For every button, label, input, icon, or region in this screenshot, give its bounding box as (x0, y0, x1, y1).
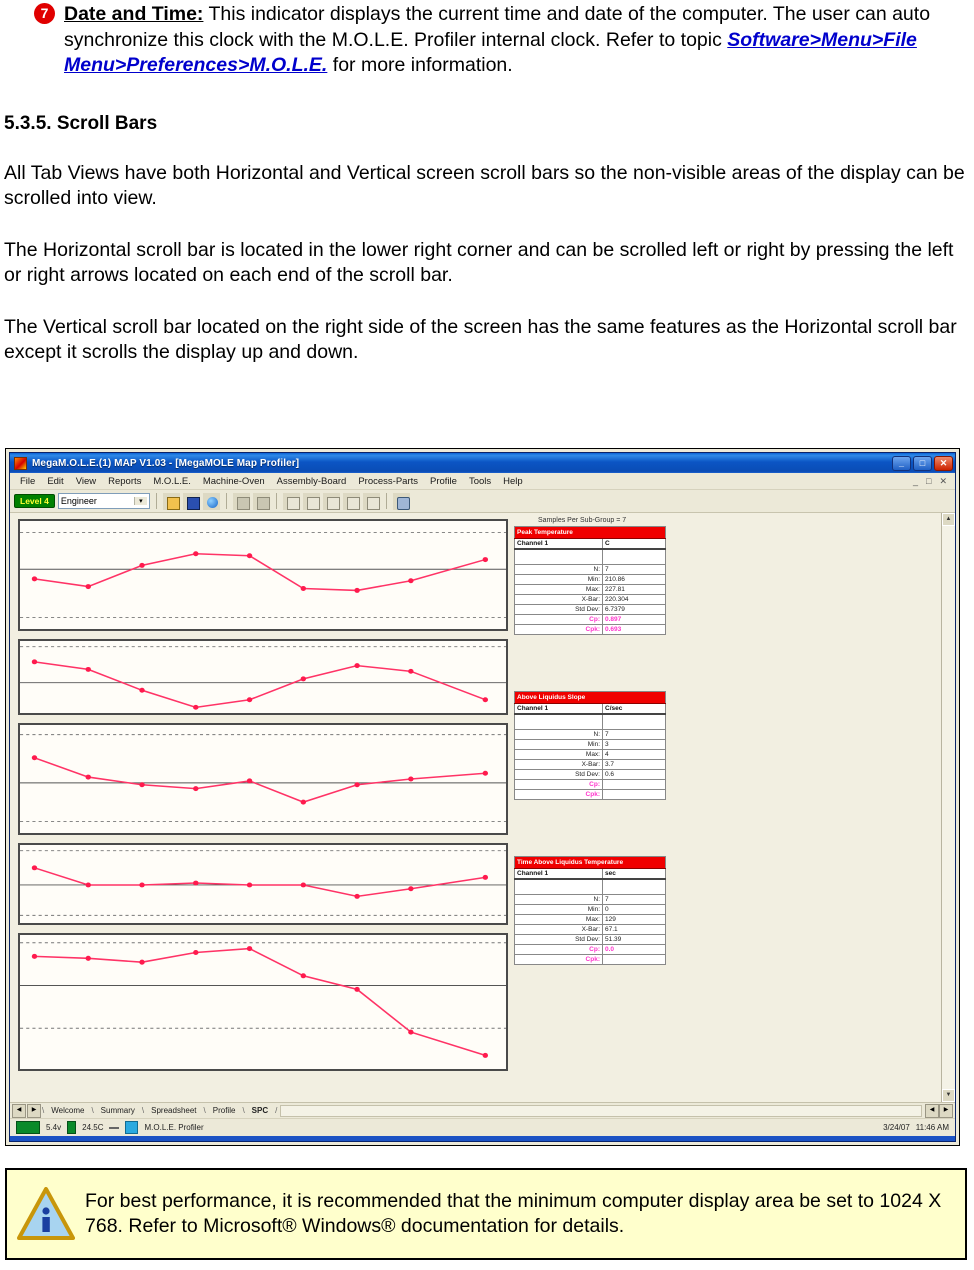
stat-row-label: X-Bar: (515, 925, 603, 935)
stat-row-value: 3.7 (603, 760, 666, 770)
stat-channel-label: Channel 1 (515, 869, 603, 880)
menu-item-help[interactable]: Help (497, 476, 529, 487)
tab-strip: ◀ ▶ \ Welcome \ Summary \ Spreadsheet \ … (10, 1102, 955, 1118)
open-icon[interactable] (163, 493, 180, 510)
spc-tab-pane: Samples Per Sub-Group = 7 Peak Temperatu… (10, 513, 941, 1102)
bullet-lead-label: Date and Time: (64, 3, 203, 25)
grid-icon[interactable] (363, 493, 380, 510)
mdi-restore-button[interactable]: □ (922, 476, 935, 486)
menu-item-assembly-board[interactable]: Assembly-Board (271, 476, 353, 487)
toolbar-separator-4 (386, 493, 387, 509)
stat-row-label: Min: (515, 575, 603, 585)
stat-cp-value: 0.897 (603, 615, 666, 625)
control-charts-column (10, 513, 508, 1102)
chart-icon[interactable] (343, 493, 360, 510)
app-icon (14, 457, 27, 470)
application-screenshot: MegaM.O.L.E.(1) MAP V1.03 - [MegaMOLE Ma… (5, 448, 960, 1146)
statistics-column: Samples Per Sub-Group = 7 Peak Temperatu… (508, 513, 941, 1102)
work-area: Samples Per Sub-Group = 7 Peak Temperatu… (10, 513, 955, 1102)
control-chart-3-plot (20, 725, 506, 833)
stat-cp-value: 0.0 (603, 945, 666, 955)
stat-row-label: N: (515, 895, 603, 905)
vertical-scrollbar[interactable]: ▲ ▼ (941, 513, 955, 1102)
stat-row-value: 220.304 (603, 595, 666, 605)
vertical-scroll-track[interactable] (942, 526, 955, 1089)
chevron-down-icon: ▾ (134, 497, 147, 505)
stat-cpk-label: Cpk: (515, 625, 603, 635)
tab-profile[interactable]: Profile (206, 1106, 243, 1115)
stat-cpk-value (603, 790, 666, 800)
window-title: MegaM.O.L.E.(1) MAP V1.03 - [MegaMOLE Ma… (32, 458, 892, 469)
control-chart-4 (18, 843, 508, 925)
tab-nav-prev-icon[interactable]: ◀ (12, 1104, 26, 1118)
stat-row-label: Std Dev: (515, 605, 603, 615)
role-select-value: Engineer (61, 496, 134, 506)
report-icon[interactable] (283, 493, 300, 510)
control-chart-5-plot (20, 935, 506, 1069)
temperature-label: 24.5C (82, 1123, 103, 1132)
samples-per-subgroup-label: Samples Per Sub-Group = 7 (538, 517, 939, 524)
stat-row-value: 0 (603, 905, 666, 915)
bullet-paragraph: Date and Time: This indicator displays t… (64, 2, 964, 79)
stat-row-value: 67.1 (603, 925, 666, 935)
stat-channel-unit: sec (603, 869, 666, 880)
mdi-minimize-button[interactable]: _ (909, 476, 922, 486)
stat-cp-label: Cp: (515, 615, 603, 625)
link-icon (109, 1127, 119, 1129)
stat-row-value: 51.39 (603, 935, 666, 945)
access-level-badge: Level 4 (14, 494, 55, 508)
stat-row-label: X-Bar: (515, 595, 603, 605)
toolbar-separator-3 (276, 493, 277, 509)
control-chart-1 (18, 519, 508, 631)
stat-row-value: 227.81 (603, 585, 666, 595)
stat-channel-unit: C/sec (603, 704, 666, 715)
control-chart-3 (18, 723, 508, 835)
stat-row-label: Min: (515, 905, 603, 915)
menu-item-process-parts[interactable]: Process-Parts (352, 476, 424, 487)
battery-voltage-label: 5.4v (46, 1123, 61, 1132)
stat-panel-title: Time Above Liquidus Temperature (515, 857, 666, 869)
note-box: For best performance, it is recommended … (5, 1168, 967, 1260)
stat-channel-label: Channel 1 (515, 704, 603, 715)
toolbar-separator (156, 493, 157, 509)
stat-panel-above-liquidus-slope: Above Liquidus Slope Channel 1 C/sec N:7… (514, 691, 666, 800)
stat-panel-time-above-liquidus: Time Above Liquidus Temperature Channel … (514, 856, 666, 965)
hscroll-right-arrow-icon[interactable]: ▶ (939, 1104, 953, 1118)
bullet-number-icon: 7 (34, 3, 55, 24)
role-select[interactable]: Engineer ▾ (58, 493, 150, 509)
date-time-bullet: 7 Date and Time: This indicator displays… (0, 0, 974, 79)
menu-item-machine-oven[interactable]: Machine-Oven (197, 476, 271, 487)
stat-row-label: Max: (515, 915, 603, 925)
device-label: M.O.L.E. Profiler (144, 1123, 203, 1132)
stat-row-label: X-Bar: (515, 760, 603, 770)
menu-item-edit[interactable]: Edit (41, 476, 69, 487)
paragraph-2: The Horizontal scroll bar is located in … (4, 238, 972, 289)
battery-icon (67, 1121, 76, 1134)
control-chart-2 (18, 639, 508, 715)
control-chart-2-plot (20, 641, 506, 713)
stat-cp-value (603, 780, 666, 790)
control-chart-4-plot (20, 845, 506, 923)
stat-row-value: 7 (603, 895, 666, 905)
tab-summary[interactable]: Summary (94, 1106, 142, 1115)
save-icon[interactable] (183, 493, 200, 510)
menu-item-tools[interactable]: Tools (463, 476, 497, 487)
stat-panel-title: Above Liquidus Slope (515, 692, 666, 704)
toolbar-separator-2 (226, 493, 227, 509)
control-chart-5 (18, 933, 508, 1071)
stat-row-value: 129 (603, 915, 666, 925)
stat-panel-peak-temperature: Peak Temperature Channel 1 C N:7 Min:210… (514, 526, 666, 635)
stat-row-value: 4 (603, 750, 666, 760)
print-preview-icon[interactable] (253, 493, 270, 510)
stat-row-label: N: (515, 730, 603, 740)
stat-row-label: Max: (515, 750, 603, 760)
stat-channel-unit: C (603, 539, 666, 550)
control-chart-1-plot (20, 521, 506, 629)
window-controls: _ □ ✕ (892, 456, 953, 471)
note-text: For best performance, it is recommended … (85, 1189, 955, 1239)
stat-row-label: Max: (515, 585, 603, 595)
stat-cpk-label: Cpk: (515, 790, 603, 800)
connection-status-icon (16, 1121, 40, 1134)
paragraph-3: The Vertical scroll bar located on the r… (4, 315, 972, 366)
close-button[interactable]: ✕ (934, 456, 953, 471)
stat-row-label: Std Dev: (515, 935, 603, 945)
menu-item-profile[interactable]: Profile (424, 476, 463, 487)
device-icon (125, 1121, 138, 1134)
mdi-close-button[interactable]: ✕ (935, 476, 951, 487)
stat-row-value: 7 (603, 565, 666, 575)
application-window: MegaM.O.L.E.(1) MAP V1.03 - [MegaMOLE Ma… (9, 452, 956, 1142)
status-date: 3/24/07 (883, 1123, 910, 1132)
stat-cpk-value (603, 955, 666, 965)
stat-row-value: 3 (603, 740, 666, 750)
stat-cpk-value: 0.693 (603, 625, 666, 635)
window-footer-accent (10, 1136, 955, 1141)
status-time: 11:46 AM (916, 1123, 949, 1132)
toolbar: Level 4 Engineer ▾ (10, 490, 955, 513)
tab-welcome[interactable]: Welcome (44, 1106, 91, 1115)
stat-row-value: 0.6 (603, 770, 666, 780)
stat-panel-title: Peak Temperature (515, 527, 666, 539)
menu-item-mole[interactable]: M.O.L.E. (147, 476, 196, 487)
tab-spc[interactable]: SPC (245, 1106, 275, 1115)
stat-row-label: N: (515, 565, 603, 575)
tab-separator: / (275, 1106, 277, 1115)
paragraph-1: All Tab Views have both Horizontal and V… (4, 161, 972, 212)
stat-row-value: 6.7379 (603, 605, 666, 615)
menu-item-view[interactable]: View (70, 476, 102, 487)
globe-icon[interactable] (203, 493, 220, 510)
horizontal-scrollbar[interactable] (280, 1105, 922, 1117)
stat-cp-label: Cp: (515, 780, 603, 790)
table-icon[interactable] (303, 493, 320, 510)
settings-icon[interactable] (393, 493, 410, 510)
status-bar: 5.4v 24.5C M.O.L.E. Profiler 3/24/07 11:… (10, 1118, 955, 1136)
spc-icon[interactable] (323, 493, 340, 510)
print-icon[interactable] (233, 493, 250, 510)
tab-list: \ Welcome \ Summary \ Spreadsheet \ Prof… (42, 1106, 277, 1115)
section-heading: 5.3.5. Scroll Bars (4, 113, 974, 135)
stat-cp-label: Cp: (515, 945, 603, 955)
minimize-button[interactable]: _ (892, 456, 911, 471)
menu-item-file[interactable]: File (14, 476, 41, 487)
stat-row-value: 210.86 (603, 575, 666, 585)
menu-bar: File Edit View Reports M.O.L.E. Machine-… (10, 473, 955, 490)
maximize-button[interactable]: □ (913, 456, 932, 471)
tab-nav-next-icon[interactable]: ▶ (27, 1104, 41, 1118)
bullet-text-part2: for more information. (327, 54, 512, 76)
scroll-down-arrow-icon[interactable]: ▼ (942, 1089, 955, 1102)
window-titlebar: MegaM.O.L.E.(1) MAP V1.03 - [MegaMOLE Ma… (10, 453, 955, 473)
scroll-up-arrow-icon[interactable]: ▲ (942, 513, 955, 526)
hscroll-left-arrow-icon[interactable]: ◀ (925, 1104, 939, 1118)
stat-row-label: Std Dev: (515, 770, 603, 780)
menu-item-reports[interactable]: Reports (102, 476, 147, 487)
info-triangle-icon (17, 1187, 75, 1241)
stat-row-label: Min: (515, 740, 603, 750)
stat-cpk-label: Cpk: (515, 955, 603, 965)
stat-row-value: 7 (603, 730, 666, 740)
tab-spreadsheet[interactable]: Spreadsheet (144, 1106, 203, 1115)
stat-channel-label: Channel 1 (515, 539, 603, 550)
